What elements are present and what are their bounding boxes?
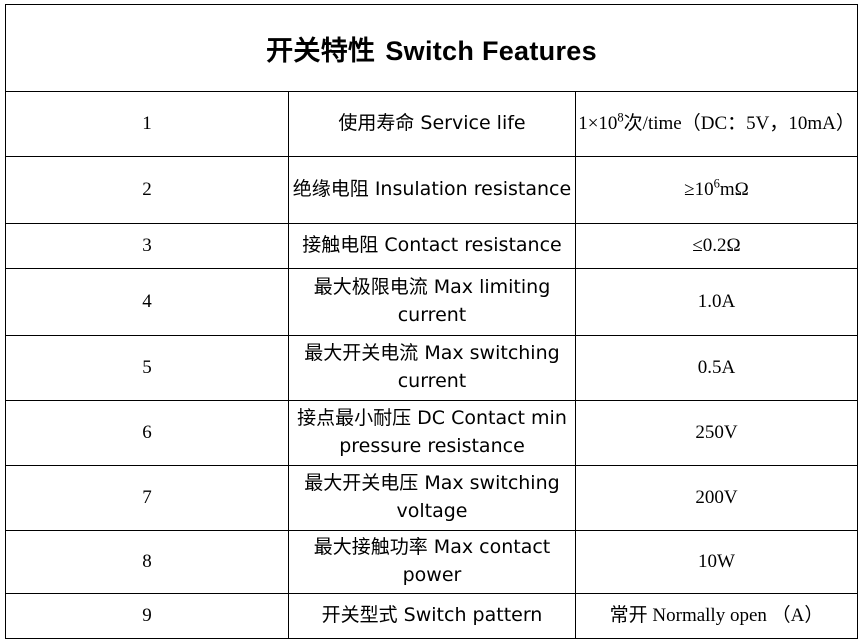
value-prefix: 1×10	[578, 113, 617, 134]
row-label: 最大开关电压 Max switching voltage	[289, 466, 576, 531]
page-title-en: Switch Features	[385, 36, 597, 66]
row-index: 2	[6, 157, 289, 224]
row-value: 10W	[576, 531, 858, 594]
row-value: ≤0.2Ω	[576, 224, 858, 269]
row-index: 1	[6, 92, 289, 157]
row-value: 1.0A	[576, 269, 858, 336]
page-title-cn: 开关特性	[266, 36, 375, 67]
table-title-row: 开关特性Switch Features	[6, 5, 858, 92]
row-index: 4	[6, 269, 289, 336]
value-prefix: ≥10	[684, 179, 713, 200]
table-row: 3 接触电阻 Contact resistance ≤0.2Ω	[6, 224, 858, 269]
table-row: 9 开关型式 Switch pattern 常开 Normally open （…	[6, 594, 858, 639]
row-value: 0.5A	[576, 336, 858, 401]
row-label: 开关型式 Switch pattern	[289, 594, 576, 639]
table-row: 1 使用寿命 Service life 1×108次/time（DC：5V，10…	[6, 92, 858, 157]
row-label: 最大开关电流 Max switching current	[289, 336, 576, 401]
switch-features-table: 开关特性Switch Features 1 使用寿命 Service life …	[5, 4, 858, 639]
row-value: ≥106mΩ	[576, 157, 858, 224]
row-index: 6	[6, 401, 289, 466]
row-index: 5	[6, 336, 289, 401]
row-index: 9	[6, 594, 289, 639]
value-suffix: 次/time（DC：5V，10mA）	[624, 113, 855, 134]
table-row: 6 接点最小耐压 DC Contact min pressure resista…	[6, 401, 858, 466]
row-label: 接点最小耐压 DC Contact min pressure resistanc…	[289, 401, 576, 466]
row-index: 8	[6, 531, 289, 594]
row-index: 3	[6, 224, 289, 269]
row-index: 7	[6, 466, 289, 531]
row-value: 200V	[576, 466, 858, 531]
row-label: 绝缘电阻 Insulation resistance	[289, 157, 576, 224]
page-title: 开关特性Switch Features	[6, 5, 858, 92]
row-value: 常开 Normally open （A）	[576, 594, 858, 639]
page-root: 开关特性Switch Features 1 使用寿命 Service life …	[0, 0, 863, 634]
row-label: 使用寿命 Service life	[289, 92, 576, 157]
table-row: 2 绝缘电阻 Insulation resistance ≥106mΩ	[6, 157, 858, 224]
value-suffix: mΩ	[720, 179, 749, 200]
table-row: 7 最大开关电压 Max switching voltage 200V	[6, 466, 858, 531]
row-value: 250V	[576, 401, 858, 466]
row-value: 1×108次/time（DC：5V，10mA）	[576, 92, 858, 157]
table-row: 5 最大开关电流 Max switching current 0.5A	[6, 336, 858, 401]
row-label: 最大接触功率 Max contact power	[289, 531, 576, 594]
row-label: 最大极限电流 Max limiting current	[289, 269, 576, 336]
table-row: 4 最大极限电流 Max limiting current 1.0A	[6, 269, 858, 336]
table-row: 8 最大接触功率 Max contact power 10W	[6, 531, 858, 594]
row-label: 接触电阻 Contact resistance	[289, 224, 576, 269]
